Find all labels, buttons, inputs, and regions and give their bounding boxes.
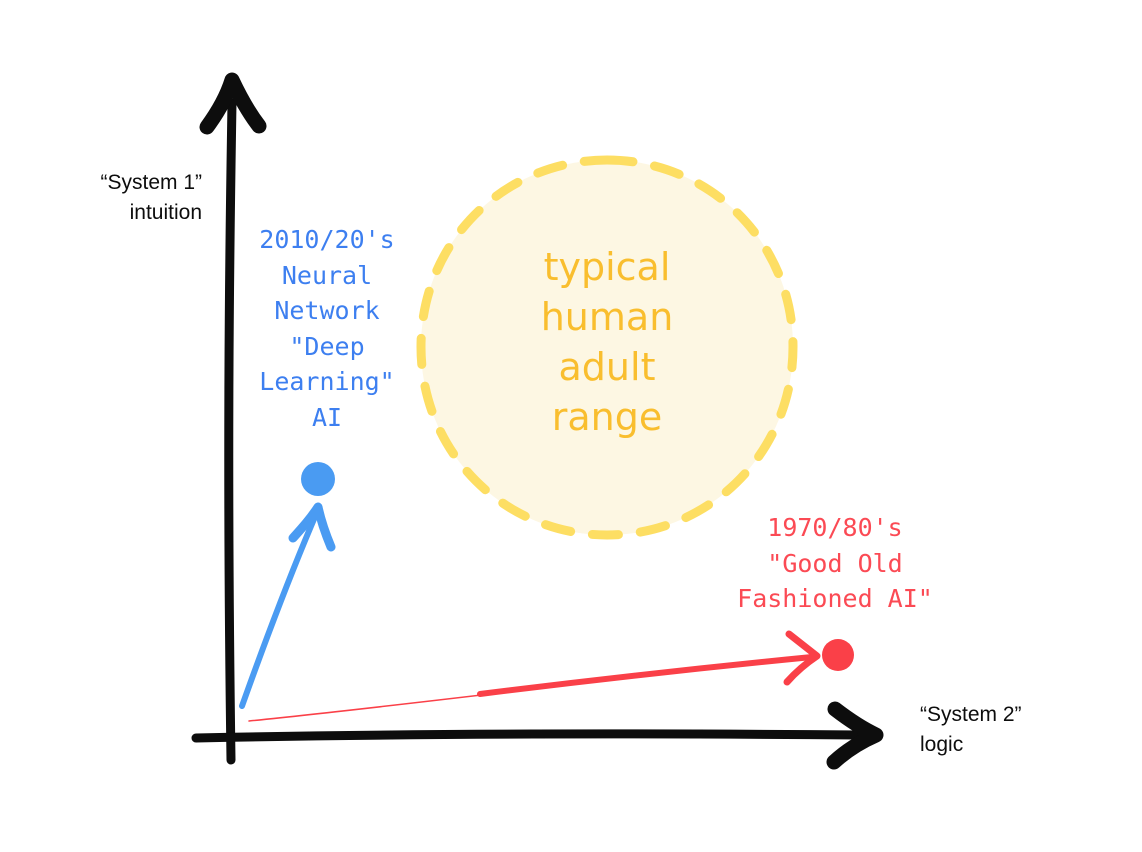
gofai-arrow-line-thick [480,657,812,694]
diagram-canvas: “System 1” intuition “System 2” logic 20… [0,0,1142,852]
gofai-point [822,639,854,671]
gofai-label: 1970/80's "Good Old Fashioned AI" [705,510,965,617]
deep-learning-arrow [242,507,331,706]
deep-learning-point [301,462,335,496]
deep-learning-arrow-line [242,512,317,706]
deep-learning-label: 2010/20's Neural Network "Deep Learning"… [222,222,432,435]
y-axis-label: “System 1” intuition [62,168,202,229]
x-axis-line [196,734,860,738]
human-range-label: typical human adult range [487,242,727,443]
x-axis-label: “System 2” logic [920,700,1120,761]
x-axis [196,709,876,762]
gofai-arrow [249,634,817,721]
